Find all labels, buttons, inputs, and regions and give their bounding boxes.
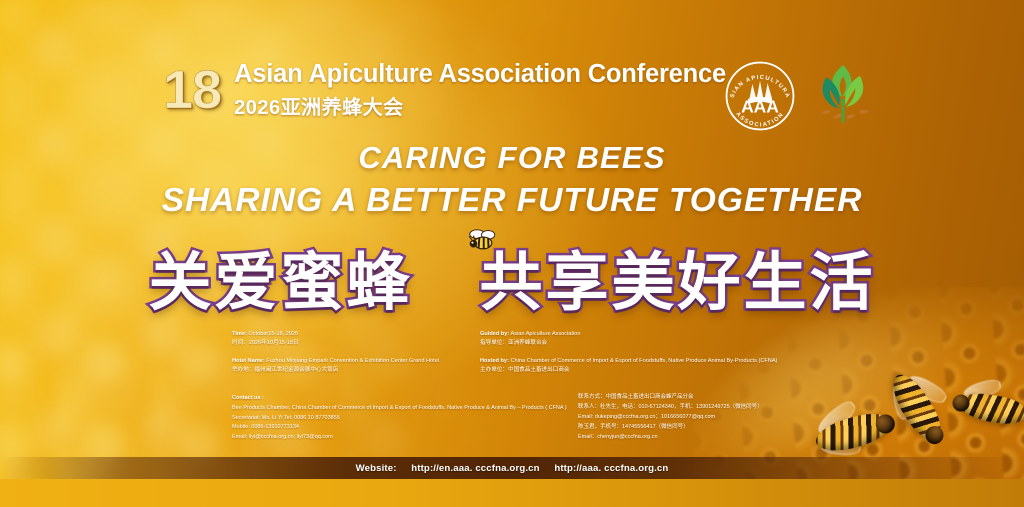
contact-cn-email-chen: Email：chenyjun@cccfna.org.cn — [578, 432, 763, 442]
slogan-english: CARING FOR BEES SHARING A BETTER FUTURE … — [0, 138, 1024, 223]
detail-time-label: Time: — [232, 331, 247, 337]
contact-mobile: Mobile: 0086-13910773134 — [232, 423, 567, 433]
detail-hosted-by: Hosted by: China Chamber of Commerce of … — [480, 357, 777, 375]
contact-organisation: Bee Products Chamber, China Chamber of C… — [232, 404, 567, 414]
slogan-chinese-part2: 共享美好生活 — [480, 248, 876, 318]
detail-hotel-cn: 举办地：福州闽江世纪金源会展中心大饭店 — [232, 366, 439, 375]
contact-email: Email: liyi@cccfna.org.cn; liyi73@qq.com — [232, 433, 567, 443]
logo-group: AAA ASIAN APICULTURAL ASSOCIATION — [722, 58, 874, 134]
contact-cn-email-du: Email: dukeping@cccfna.org.cn；1016656077… — [578, 412, 763, 422]
detail-time-cn: 时间：2026年10月15-18日 — [232, 339, 439, 348]
detail-guided-by-label: Guided by: — [480, 331, 509, 337]
cfna-logo — [812, 60, 874, 132]
detail-hotel: Hotel Name: Fuzhou Minjiang Empark Conve… — [232, 357, 439, 375]
svg-text:AAA: AAA — [741, 97, 779, 117]
detail-guided-by-cn: 指导单位：亚洲养蜂联合会 — [480, 339, 777, 348]
poster-header: 18 Asian Apiculture Association Conferen… — [163, 60, 726, 120]
contact-cn-organisation: 联系方式：中国食品土畜进出口商会蜂产品分会 — [578, 392, 763, 402]
slogan-chinese-part1: 关爱蜜蜂 — [148, 248, 412, 318]
detail-hotel-value: Fuzhou Minjiang Empark Convention & Exhi… — [266, 358, 439, 364]
detail-hotel-en: Hotel Name: Fuzhou Minjiang Empark Conve… — [232, 357, 439, 366]
event-details-left: Time: October15-18, 2026 时间：2026年10月15-1… — [232, 330, 439, 375]
bee-illustration-icon — [468, 229, 498, 251]
title-group: Asian Apiculture Association Conference … — [234, 60, 726, 120]
conference-title-cn: 2026亚洲养蜂大会 — [234, 91, 726, 120]
event-details-right: Guided by: Asian Apiculture Association … — [480, 330, 777, 375]
detail-hosted-by-label: Hosted by: — [480, 358, 509, 364]
contact-secretariat: Secretariat: Ms. Li Yi Tel: 0086 10 8770… — [232, 414, 567, 424]
conference-title-en: Asian Apiculture Association Conference — [234, 60, 726, 89]
website-text: Website: http://en.aaa. cccfna.org.cn ht… — [356, 463, 669, 474]
bottom-strip — [0, 479, 1024, 507]
slogan-chinese: 关爱蜜蜂 共享美好生活 — [0, 232, 1024, 323]
contact-cn-person-chen: 陈玉君，手机号：14745556417（微信同号） — [578, 422, 763, 432]
detail-guided-by-en: Guided by: Asian Apiculture Association — [480, 330, 777, 339]
detail-time-en: Time: October15-18, 2026 — [232, 330, 439, 339]
slogan-english-line2: SHARING A BETTER FUTURE TOGETHER — [0, 179, 1024, 223]
contact-block-english: Contact us : Bee Products Chamber, China… — [232, 394, 567, 443]
detail-time: Time: October15-18, 2026 时间：2026年10月15-1… — [232, 330, 439, 348]
detail-hosted-by-en: Hosted by: China Chamber of Commerce of … — [480, 357, 777, 366]
detail-hosted-by-value: China Chamber of Commerce of Import & Ex… — [510, 358, 777, 364]
detail-hosted-by-cn: 主办单位：中国食品土畜进出口商会 — [480, 366, 777, 375]
detail-time-value: October15-18, 2026 — [248, 331, 298, 337]
slogan-english-line1: CARING FOR BEES — [0, 138, 1024, 179]
website-url-en[interactable]: http://en.aaa. cccfna.org.cn — [411, 463, 539, 474]
edition-number: 18 — [163, 67, 221, 113]
contact-cn-person-du: 联系人：杜先生，电话：010-67124340，手机：13901249725（微… — [578, 402, 763, 412]
website-label: Website: — [356, 463, 397, 474]
detail-hotel-label: Hotel Name: — [232, 358, 265, 364]
detail-guided-by: Guided by: Asian Apiculture Association … — [480, 330, 777, 348]
website-url-cn[interactable]: http://aaa. cccfna.org.cn — [554, 463, 668, 474]
aaa-logo: AAA ASIAN APICULTURAL ASSOCIATION — [722, 58, 798, 134]
contact-block-chinese: 联系方式：中国食品土畜进出口商会蜂产品分会 联系人：杜先生，电话：010-671… — [578, 392, 763, 443]
website-bar: Website: http://en.aaa. cccfna.org.cn ht… — [0, 457, 1024, 479]
conference-poster: 18 Asian Apiculture Association Conferen… — [0, 0, 1024, 507]
contact-heading: Contact us : — [232, 394, 567, 404]
detail-guided-by-value: Asian Apiculture Association — [510, 331, 580, 337]
